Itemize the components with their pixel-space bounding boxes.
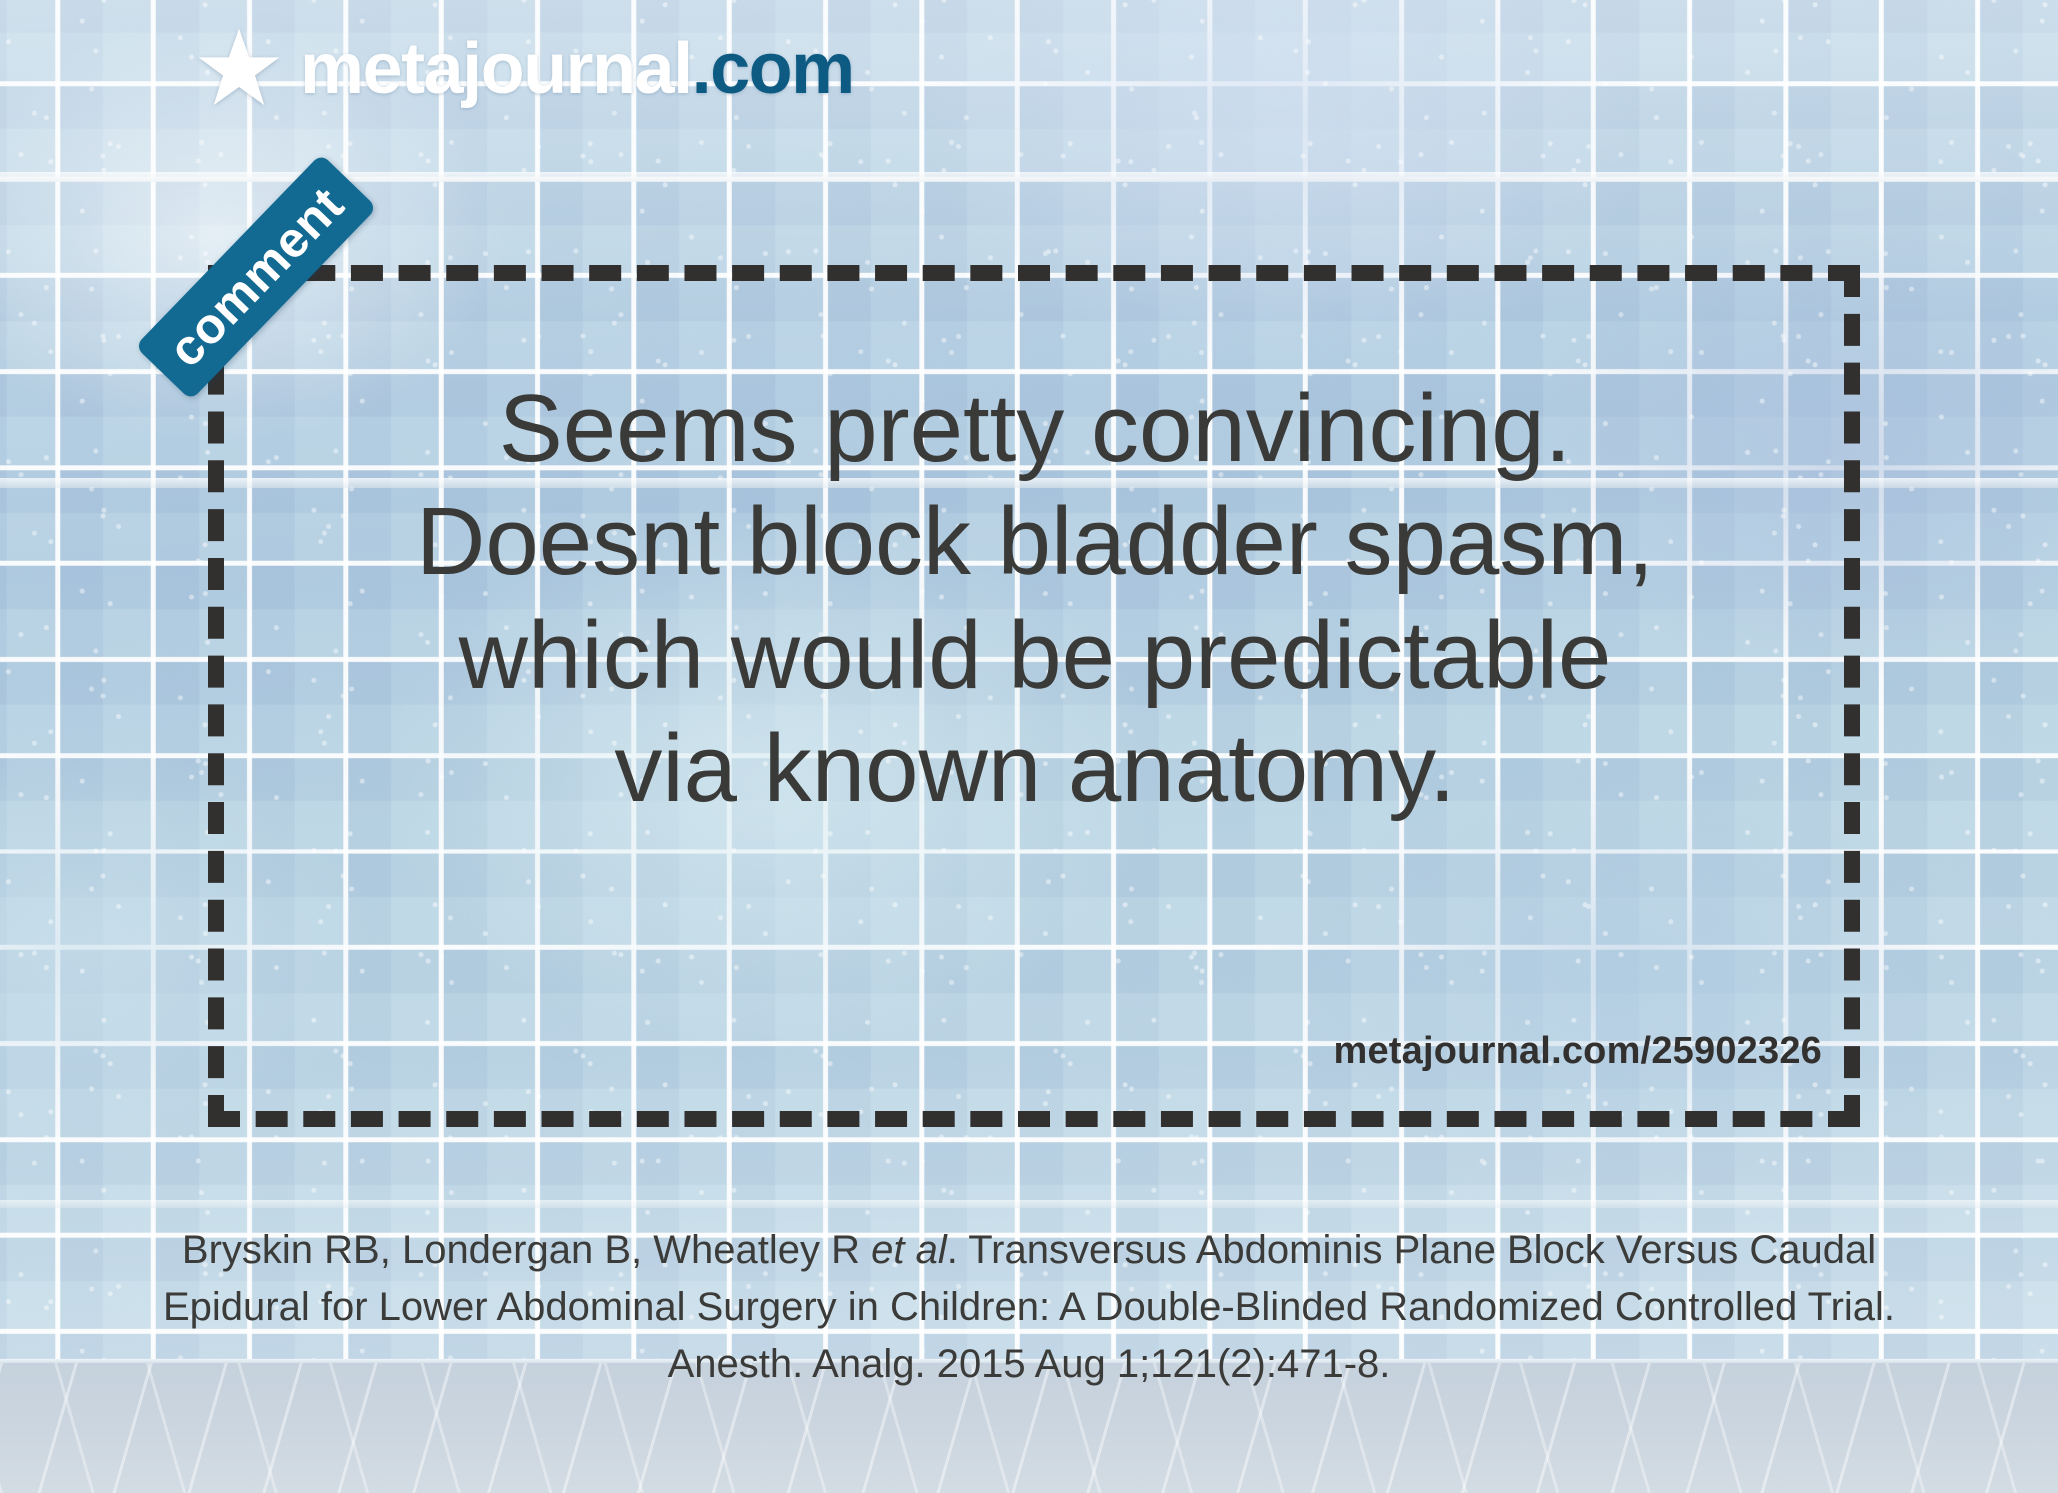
- star-icon: [196, 26, 282, 112]
- comment-quote-text: Seems pretty convincing. Doesnt block bl…: [250, 372, 1820, 825]
- quote-line-4: via known anatomy.: [250, 712, 1820, 825]
- metajournal-comment-card: metajournal.com comment Seems pretty con…: [0, 0, 2058, 1493]
- citation-reference: Bryskin RB, Londergan B, Wheatley R et a…: [110, 1222, 1948, 1392]
- brand-logo[interactable]: metajournal.com: [196, 26, 854, 112]
- quote-line-2: Doesnt block bladder spasm,: [250, 485, 1820, 598]
- quote-line-3: which would be predictable: [250, 599, 1820, 712]
- brand-name: metajournal: [300, 29, 692, 109]
- citation-et-al: et al: [871, 1228, 947, 1272]
- permalink-url[interactable]: metajournal.com/25902326: [1333, 1030, 1822, 1073]
- citation-authors: Bryskin RB, Londergan B, Wheatley R: [182, 1228, 871, 1272]
- quote-line-1: Seems pretty convincing.: [250, 372, 1820, 485]
- brand-wordmark: metajournal.com: [300, 33, 854, 105]
- brand-tld: .com: [692, 29, 854, 109]
